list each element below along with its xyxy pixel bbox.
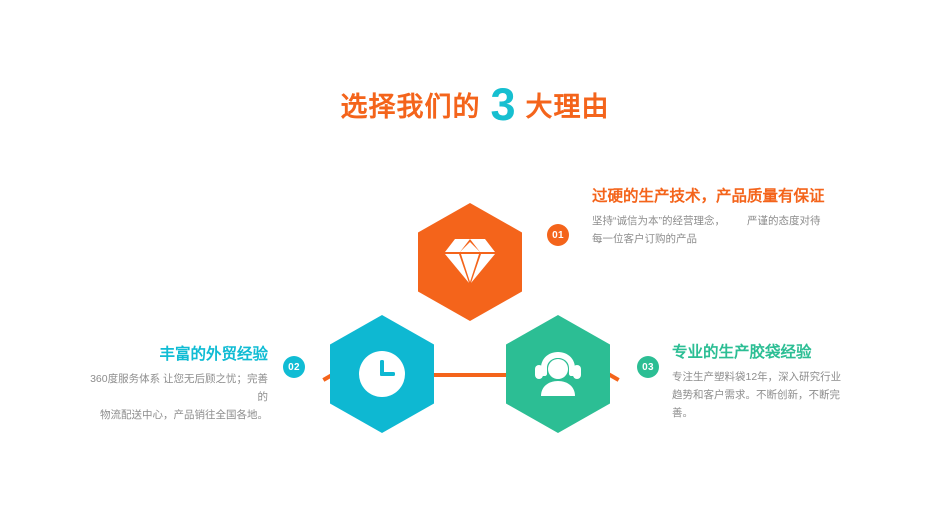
page-title-suffix: 大理由 [526, 94, 610, 121]
page-title-prefix: 选择我们的 [340, 94, 480, 121]
feature-title-01: 过硬的生产技术，产品质量有保证 [592, 186, 857, 207]
page-title-number: 3 [480, 82, 525, 127]
slide-canvas: 选择我们的3大理由 [0, 0, 950, 521]
feature-body-03-line1: 专注生产塑料袋12年，深入研究行业 [672, 371, 841, 383]
hexagon-node-service[interactable] [330, 315, 434, 433]
feature-body-03: 专注生产塑料袋12年，深入研究行业 趋势和客户需求。不断创新，不断完 善。 [672, 368, 852, 422]
page-title: 选择我们的3大理由 [0, 78, 950, 123]
feature-title-03: 专业的生产胶袋经验 [672, 342, 852, 363]
hexagon-node-quality[interactable] [418, 203, 522, 321]
feature-block-01: 过硬的生产技术，产品质量有保证 坚持“诚信为本”的经营理念，严谨的态度对待 每一… [592, 186, 857, 248]
feature-body-03-line2: 趋势和客户需求。不断创新，不断完 [672, 389, 840, 401]
feature-body-01-line3: 每一位客户订购的产品 [592, 233, 697, 245]
feature-body-02-line1: 360度服务体系 让您无后顾之忧；完善的 [90, 373, 268, 403]
feature-body-02-line2: 物流配送中心，产品销往全国各地。 [100, 409, 268, 421]
feature-body-03-line3: 善。 [672, 407, 693, 419]
diamond-icon [445, 239, 495, 285]
hexagon-diagram [320, 195, 620, 445]
feature-body-01: 坚持“诚信为本”的经营理念，严谨的态度对待 每一位客户订购的产品 [592, 212, 857, 248]
badge-02: 02 [283, 356, 305, 378]
headset-support-icon [532, 350, 584, 398]
feature-block-02: 丰富的外贸经验 360度服务体系 让您无后顾之忧；完善的 物流配送中心，产品销往… [88, 344, 268, 424]
badge-03: 03 [637, 356, 659, 378]
feature-body-02: 360度服务体系 让您无后顾之忧；完善的 物流配送中心，产品销往全国各地。 [88, 370, 268, 424]
hexagon-node-experience[interactable] [506, 315, 610, 433]
clock-icon [358, 350, 406, 398]
feature-body-01-line1: 坚持“诚信为本”的经营理念， [592, 215, 725, 227]
badge-01: 01 [547, 224, 569, 246]
feature-block-03: 专业的生产胶袋经验 专注生产塑料袋12年，深入研究行业 趋势和客户需求。不断创新… [672, 342, 852, 422]
feature-body-01-line2: 严谨的态度对待 [747, 215, 821, 227]
feature-title-02: 丰富的外贸经验 [88, 344, 268, 365]
